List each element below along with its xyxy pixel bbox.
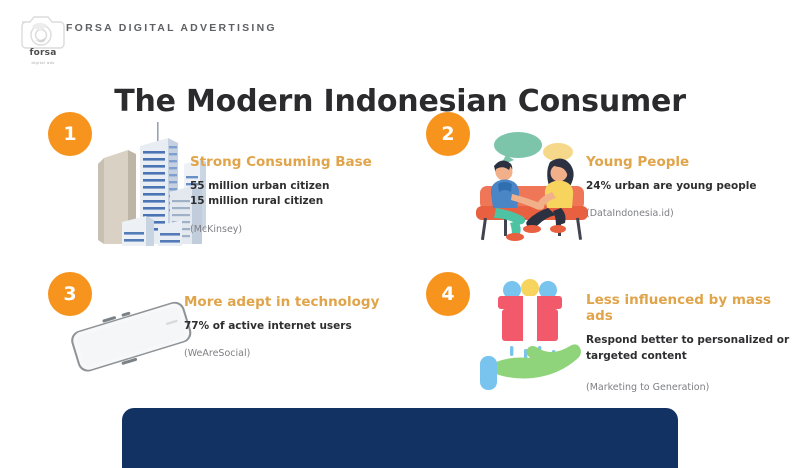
logo-subtext: digital ads xyxy=(20,62,66,66)
stat-text-2: Young People 24% urban are young people … xyxy=(586,154,786,219)
stat-body-line: targeted content xyxy=(586,349,792,364)
stat-source-4: (Marketing to Generation) xyxy=(586,382,792,393)
stat-body-1: 55 million urban citizen 15 million rura… xyxy=(190,179,402,209)
stat-text-3: More adept in technology 77% of active i… xyxy=(184,294,402,359)
hand-holding-gift-icon xyxy=(474,276,586,394)
stat-body-line: 55 million urban citizen xyxy=(190,179,402,194)
stat-card-4: 4 Less influenced by mass a xyxy=(418,272,778,417)
stat-heading-3: More adept in technology xyxy=(184,294,402,310)
stat-card-3: 3 More adept in technology 77% of active… xyxy=(40,272,400,417)
bottom-accent-bar xyxy=(122,408,678,468)
stat-body-line: Respond better to personalized or xyxy=(586,333,792,348)
stat-body-2: 24% urban are young people xyxy=(586,179,786,194)
stat-body-4: Respond better to personalized or target… xyxy=(586,333,792,363)
brand-header: forsa digital ads FORSA DIGITAL ADVERTIS… xyxy=(0,0,800,62)
stat-source-1: (McKinsey) xyxy=(190,224,402,235)
stat-text-1: Strong Consuming Base 55 million urban c… xyxy=(190,154,402,235)
stat-body-line: 77% of active internet users xyxy=(184,319,402,334)
stat-heading-4: Less influenced by mass ads xyxy=(586,292,792,324)
brand-wordmark: FORSA DIGITAL ADVERTISING xyxy=(66,22,277,34)
stat-body-line: 15 million rural citizen xyxy=(190,194,402,209)
stat-card-2: 2 xyxy=(418,112,778,257)
stat-badge-2: 2 xyxy=(426,112,470,156)
forsa-camera-logo-icon: forsa digital ads xyxy=(14,6,72,60)
stat-source-2: (DataIndonesia.id) xyxy=(586,208,786,219)
stat-source-3: (WeAreSocial) xyxy=(184,348,402,359)
smartphone-icon xyxy=(56,288,204,384)
stat-body-line: 24% urban are young people xyxy=(586,179,786,194)
stat-text-4: Less influenced by mass ads Respond bett… xyxy=(586,292,792,393)
stat-badge-4: 4 xyxy=(426,272,470,316)
two-people-conversation-icon xyxy=(466,126,596,244)
logo-wordmark-text: forsa xyxy=(20,49,66,58)
stat-heading-1: Strong Consuming Base xyxy=(190,154,402,170)
stat-card-1: 1 xyxy=(40,112,400,257)
stat-heading-2: Young People xyxy=(586,154,786,170)
stat-body-3: 77% of active internet users xyxy=(184,319,402,334)
